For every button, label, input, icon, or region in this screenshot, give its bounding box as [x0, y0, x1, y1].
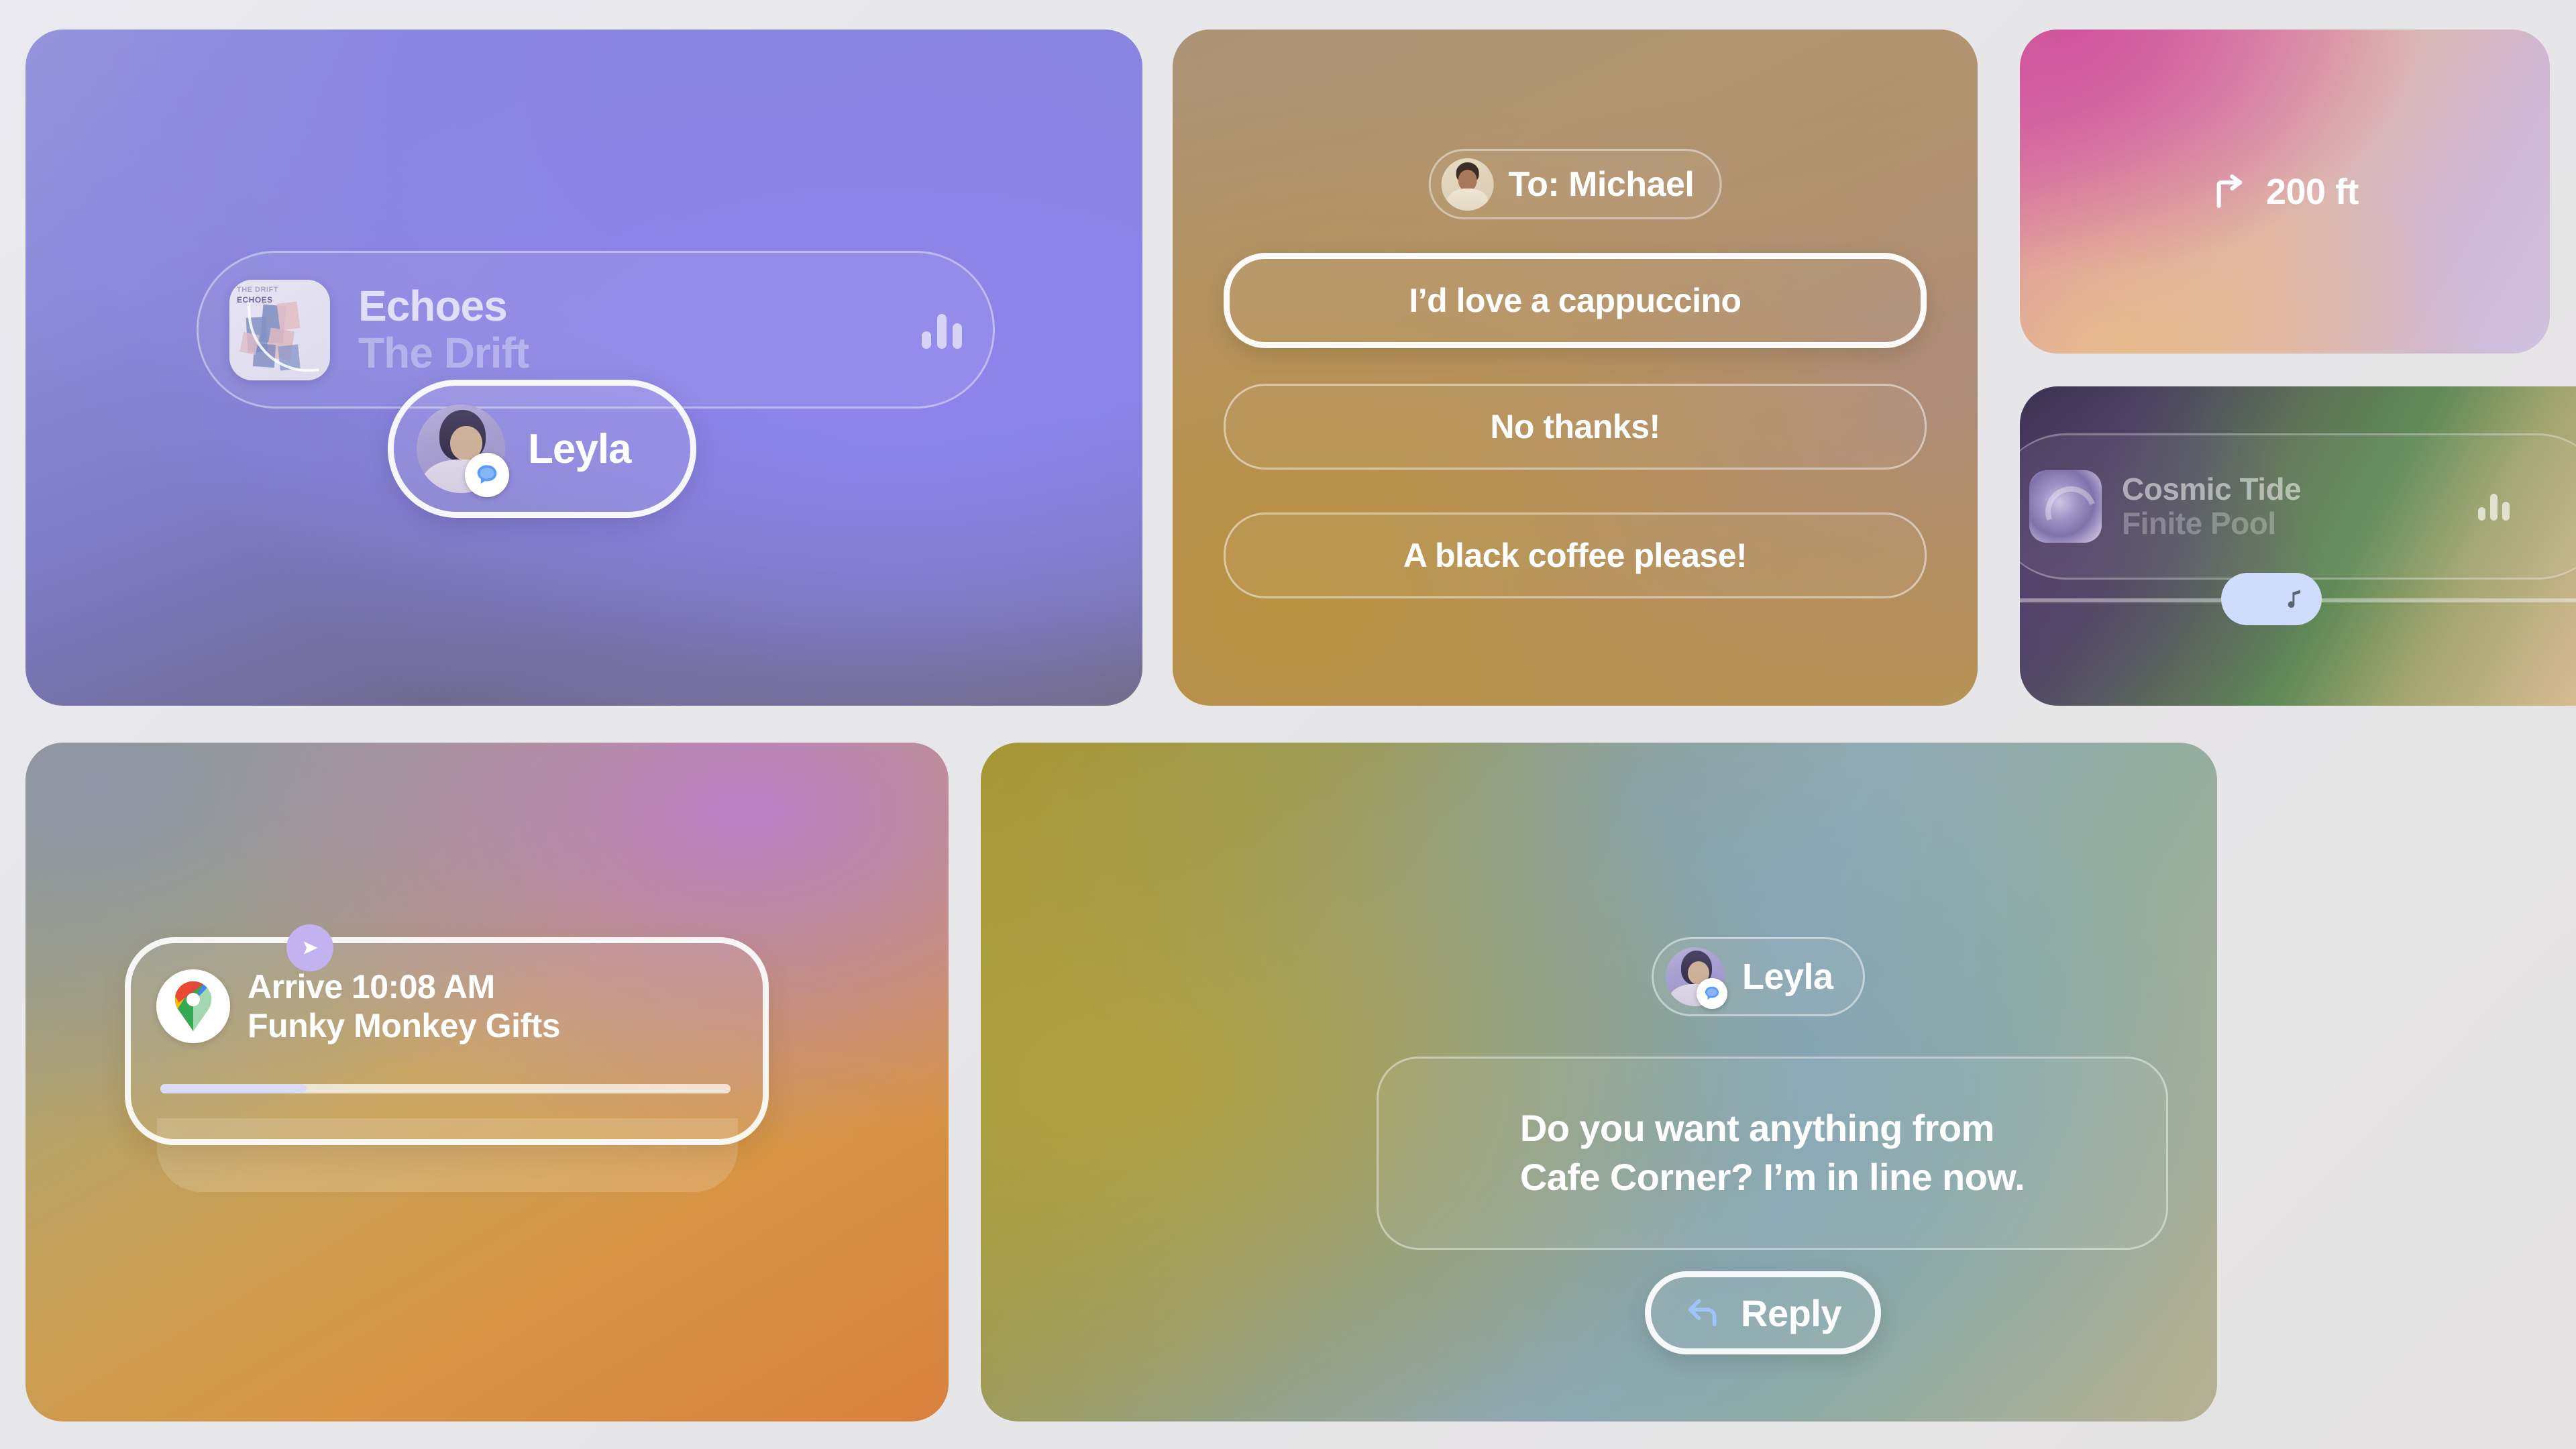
message-body: Do you want anything from Cafe Corner? I… [1520, 1104, 2025, 1202]
message-bubble[interactable]: Do you want anything from Cafe Corner? I… [1377, 1057, 2168, 1250]
album-art [2029, 470, 2102, 543]
cosmic-now-playing-pill[interactable]: Cosmic Tide Finite Pool [2020, 433, 2576, 580]
card-incoming-message[interactable]: Leyla Do you want anything from Cafe Cor… [981, 743, 2217, 1421]
playback-scrubber-thumb[interactable] [2221, 573, 2322, 625]
widget-board: THE DRIFT ECHOES Echoes The Drift [0, 0, 2576, 1449]
recipient-label: To: Michael [1509, 164, 1695, 205]
messages-bubble-icon [465, 453, 509, 497]
turn-distance: 200 ft [2266, 171, 2359, 213]
arrive-header: Arrive 10:08 AM Funky Monkey Gifts [156, 967, 560, 1045]
reply-option-1[interactable]: I’d love a cappuccino [1224, 253, 1927, 348]
route-progress-track[interactable] [160, 1084, 731, 1093]
message-body-line-2: Cafe Corner? I’m in line now. [1520, 1156, 2025, 1198]
message-body-line-1: Do you want anything from [1520, 1107, 1994, 1149]
card-now-playing-music[interactable]: THE DRIFT ECHOES Echoes The Drift [25, 30, 1142, 706]
messages-bubble-icon [1697, 978, 1727, 1009]
track-artist: Finite Pool [2122, 506, 2301, 541]
arrive-eta: Arrive 10:08 AM [248, 967, 560, 1006]
card-navigation-arrive[interactable]: Arrive 10:08 AM Funky Monkey Gifts 8:32 [25, 743, 949, 1421]
card-music-cosmic-tide[interactable]: Cosmic Tide Finite Pool [2020, 386, 2576, 706]
google-maps-pin-icon [156, 969, 230, 1043]
track-title: Cosmic Tide [2122, 472, 2301, 506]
track-meta: Cosmic Tide Finite Pool [2122, 472, 2301, 540]
route-progress-fill [160, 1084, 307, 1093]
reply-arrow-icon [1684, 1296, 1722, 1330]
incoming-caller-pill[interactable]: Leyla [388, 380, 696, 518]
reply-button-label: Reply [1741, 1291, 1841, 1335]
recipient-pill[interactable]: To: Michael [1429, 149, 1722, 219]
music-note-icon [2283, 586, 2307, 612]
caller-name: Leyla [528, 425, 631, 473]
message-sender-pill[interactable]: Leyla [1652, 937, 1865, 1016]
message-sender-name: Leyla [1742, 956, 1833, 998]
arrive-pill[interactable]: Arrive 10:08 AM Funky Monkey Gifts [125, 937, 769, 1145]
track-meta: Echoes The Drift [358, 283, 529, 376]
reply-button[interactable]: Reply [1645, 1271, 1881, 1354]
track-title: Echoes [358, 283, 529, 329]
album-art: THE DRIFT ECHOES [229, 280, 330, 380]
reply-option-2[interactable]: No thanks! [1224, 384, 1927, 470]
arrive-text: Arrive 10:08 AM Funky Monkey Gifts [248, 967, 560, 1045]
card-navigation-turn[interactable]: 200 ft [2020, 30, 2550, 354]
turn-instruction: 200 ft [2211, 171, 2359, 213]
route-progress-thumb[interactable] [286, 924, 333, 971]
avatar [417, 405, 505, 493]
avatar [1666, 947, 1725, 1006]
track-artist: The Drift [358, 330, 529, 376]
contact-avatar [1442, 158, 1494, 211]
turn-right-icon [2211, 173, 2249, 211]
card-suggested-replies[interactable]: To: Michael I’d love a cappuccino No tha… [1173, 30, 1978, 706]
navigation-arrow-icon [299, 936, 321, 959]
equalizer-icon [922, 311, 962, 349]
reply-option-3[interactable]: A black coffee please! [1224, 513, 1927, 598]
equalizer-icon [2478, 492, 2574, 521]
album-art-label-top: THE DRIFT [237, 286, 278, 294]
arrive-destination: Funky Monkey Gifts [248, 1006, 560, 1045]
